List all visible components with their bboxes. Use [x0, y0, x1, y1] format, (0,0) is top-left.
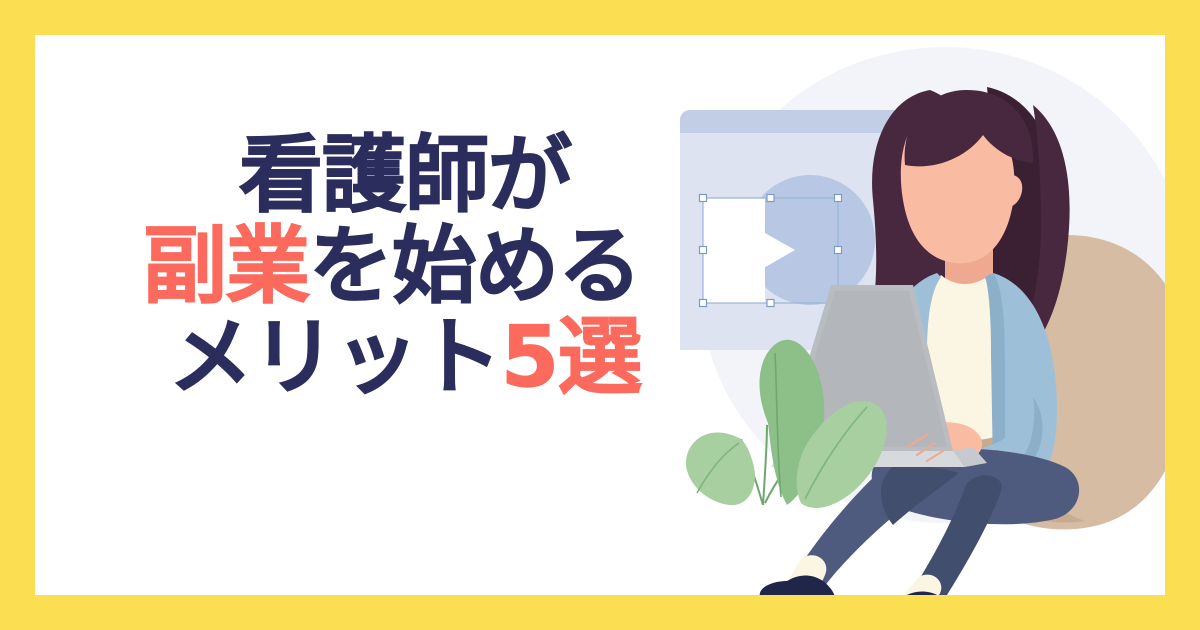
headline-line-2: 副業を始める — [143, 221, 665, 312]
headline-line-1: 看護師が — [145, 130, 665, 221]
banner-card: 看護師が 副業を始める メリット5選 — [35, 35, 1165, 595]
headline-line1-text: 看護師が — [239, 126, 571, 224]
illustration — [635, 35, 1165, 595]
headline-line3-rest: メリット — [169, 308, 501, 406]
frame-top — [0, 0, 1200, 35]
headline-line2-accent: 副業 — [143, 217, 309, 315]
headline: 看護師が 副業を始める メリット5選 — [145, 130, 665, 403]
headline-line-3: メリット5選 — [145, 312, 665, 403]
frame-right — [1165, 0, 1200, 630]
banner-canvas: 看護師が 副業を始める メリット5選 — [0, 0, 1200, 630]
headline-line2-rest: を始める — [309, 217, 641, 315]
frame-left — [0, 0, 35, 630]
frame-bottom — [0, 595, 1200, 630]
headline-line3-accent: 5選 — [501, 308, 641, 406]
